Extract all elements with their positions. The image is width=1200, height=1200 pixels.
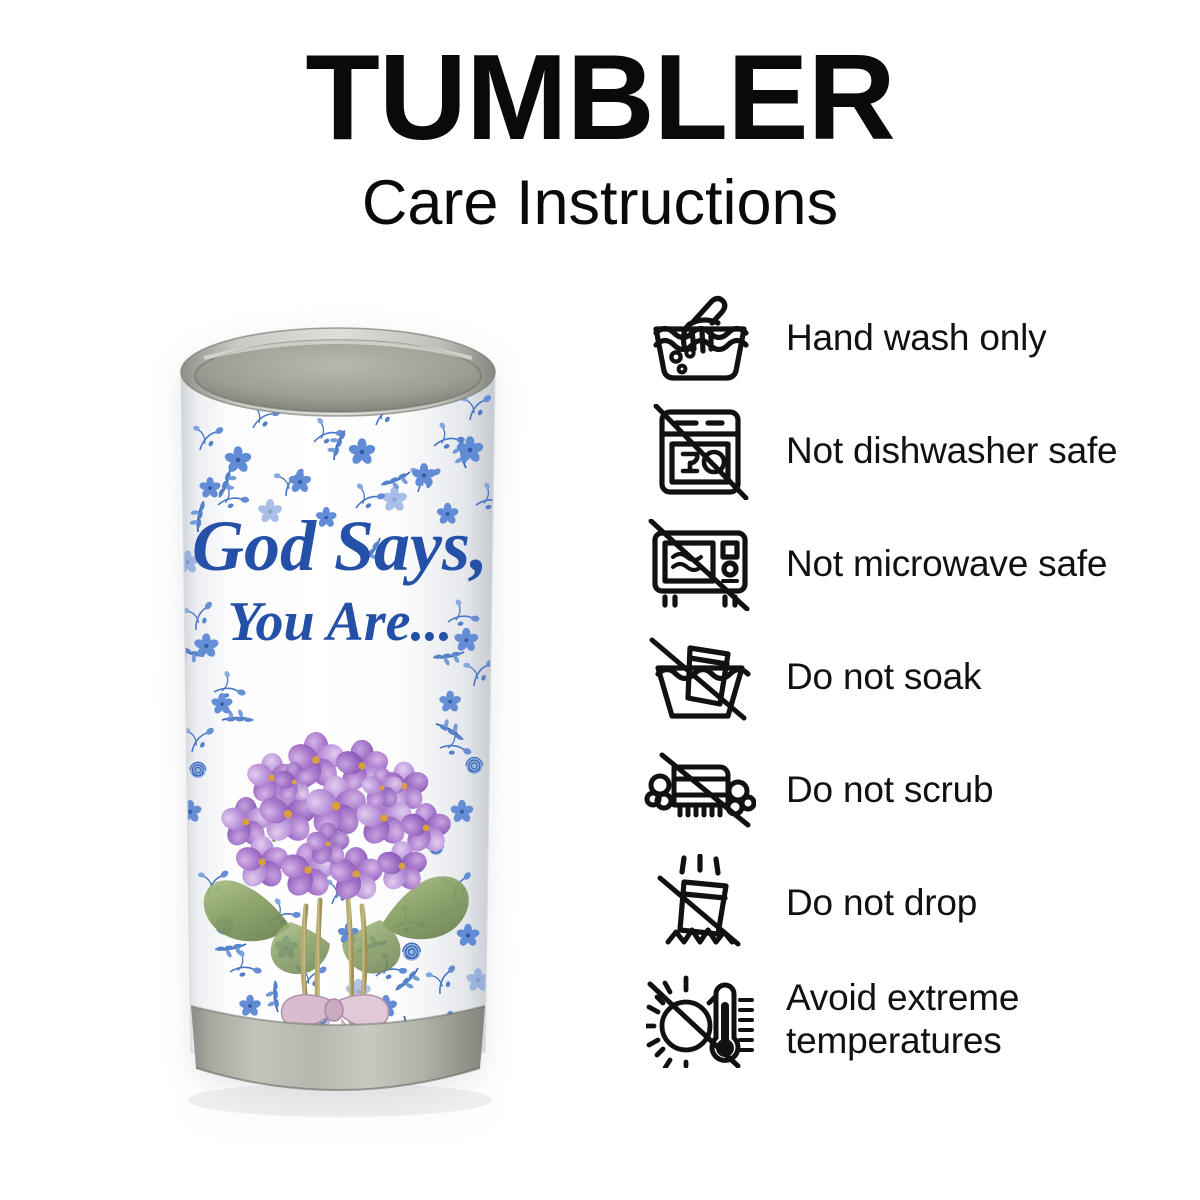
product-image: God Says, You Are...	[118, 300, 558, 1160]
tumbler-script-text: God Says, You Are...	[192, 506, 488, 653]
care-label-line1: Hand wash only	[786, 317, 1046, 358]
care-label: Hand wash only	[764, 317, 1046, 360]
care-label-line1: Not microwave safe	[786, 543, 1107, 584]
care-label-line1: Do not drop	[786, 882, 977, 923]
care-label-line1: Do not soak	[786, 656, 981, 697]
no-dishwasher-icon	[636, 400, 764, 504]
no-soak-icon	[636, 626, 764, 730]
page-title: TUMBLER	[0, 36, 1200, 158]
page-header: TUMBLER Care Instructions	[0, 36, 1200, 236]
script-line-1: God Says,	[192, 506, 488, 586]
care-row-no-microwave: Not microwave safe	[636, 508, 1188, 621]
care-row-no-extreme-temp: Avoid extreme temperatures	[636, 960, 1188, 1080]
script-line-2: You Are...	[227, 591, 452, 653]
care-label-line1: Do not scrub	[786, 769, 993, 810]
care-label: Do not drop	[764, 882, 977, 925]
care-row-no-soak: Do not soak	[636, 621, 1188, 734]
no-scrub-icon	[636, 739, 764, 843]
care-instructions-page: TUMBLER Care Instructions	[0, 0, 1200, 1200]
hand-wash-icon	[636, 287, 764, 391]
no-microwave-icon	[636, 513, 764, 617]
care-label: Avoid extreme temperatures	[764, 977, 1019, 1063]
care-label-line1: Avoid extreme	[786, 977, 1019, 1018]
care-label: Not dishwasher safe	[764, 430, 1117, 473]
care-label: Do not soak	[764, 656, 981, 699]
care-label: Do not scrub	[764, 769, 993, 812]
care-label: Not microwave safe	[764, 543, 1107, 586]
care-row-no-dishwasher: Not dishwasher safe	[636, 395, 1188, 508]
care-row-no-drop: Do not drop	[636, 847, 1188, 960]
tumbler-illustration: God Says, You Are...	[118, 300, 558, 1160]
care-label-line2: temperatures	[786, 1020, 1019, 1063]
care-row-no-scrub: Do not scrub	[636, 734, 1188, 847]
no-drop-icon	[636, 852, 764, 956]
care-label-line1: Not dishwasher safe	[786, 430, 1117, 471]
care-row-hand-wash: Hand wash only	[636, 282, 1188, 395]
no-extreme-temp-icon	[636, 968, 764, 1072]
care-instructions-list: Hand wash only	[636, 282, 1188, 1080]
tumbler-body: God Says, You Are...	[173, 372, 513, 1082]
tumbler-rim	[181, 328, 495, 416]
page-subtitle: Care Instructions	[0, 170, 1200, 236]
